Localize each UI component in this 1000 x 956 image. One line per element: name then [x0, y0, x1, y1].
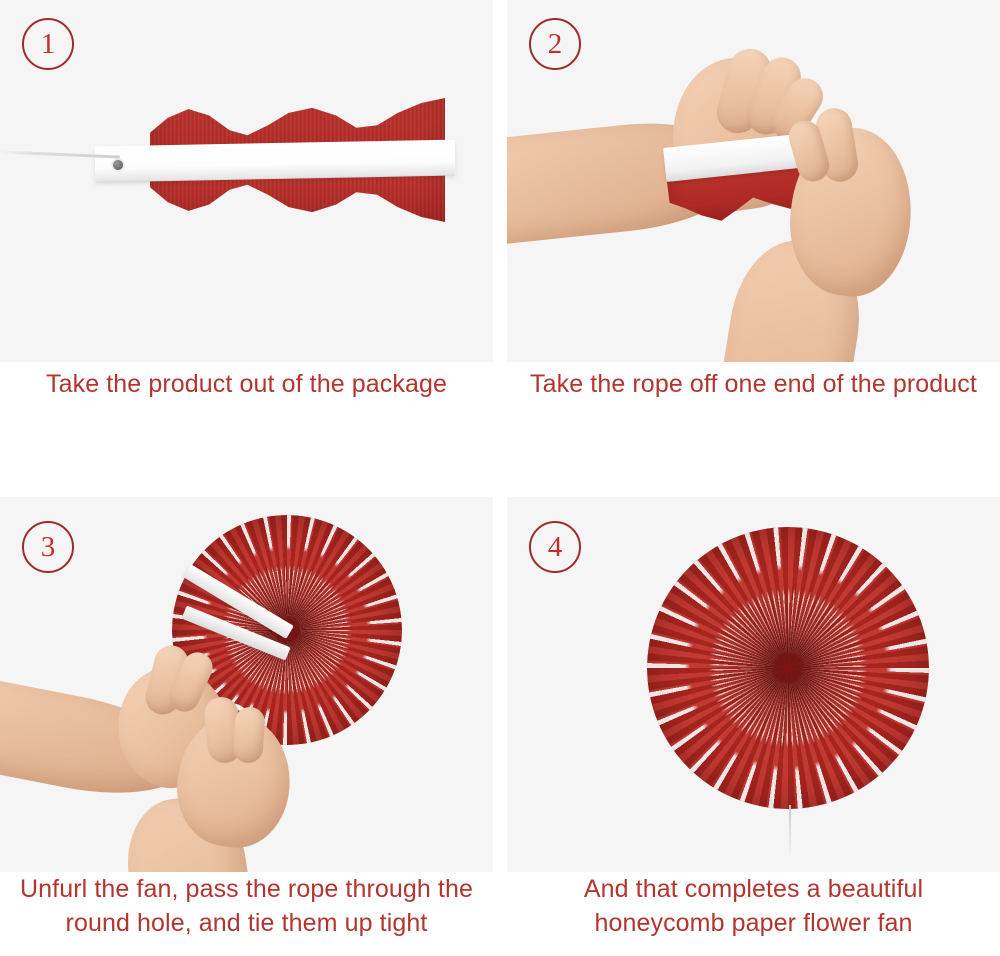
step-2-caption-text: Take the rope off one end of the product — [530, 368, 977, 401]
step-2-badge: 2 — [529, 18, 581, 70]
eyelet-hole-icon — [113, 160, 123, 170]
step-3-caption: Unfurl the fan, pass the rope through th… — [0, 872, 493, 956]
step-3-badge: 3 — [22, 521, 74, 573]
step-2-caption: Take the rope off one end of the product — [507, 362, 1000, 497]
step-4-badge: 4 — [529, 521, 581, 573]
step-1-caption: Take the product out of the package — [0, 362, 493, 497]
step-1-badge: 1 — [22, 18, 74, 70]
instruction-sheet: 1 2 Take th — [0, 0, 1000, 956]
folded-fan-illustration — [95, 90, 455, 230]
step-1-caption-text: Take the product out of the package — [46, 368, 447, 401]
step-1-image-panel: 1 — [0, 0, 493, 362]
right-finger-2 — [232, 706, 266, 764]
finished-paper-fan — [647, 527, 929, 809]
step-3-caption-text: Unfurl the fan, pass the rope through th… — [20, 872, 473, 940]
white-cardboard-strip — [95, 140, 456, 183]
fan-center-hub — [783, 663, 792, 672]
hanging-thread — [789, 805, 791, 859]
step-3-image-panel: 3 — [0, 497, 493, 872]
step-4-caption: And that completes a beautiful honeycomb… — [507, 872, 1000, 956]
step-4-caption-text: And that completes a beautiful honeycomb… — [584, 872, 923, 940]
step-4-image-panel: 4 — [507, 497, 1000, 872]
